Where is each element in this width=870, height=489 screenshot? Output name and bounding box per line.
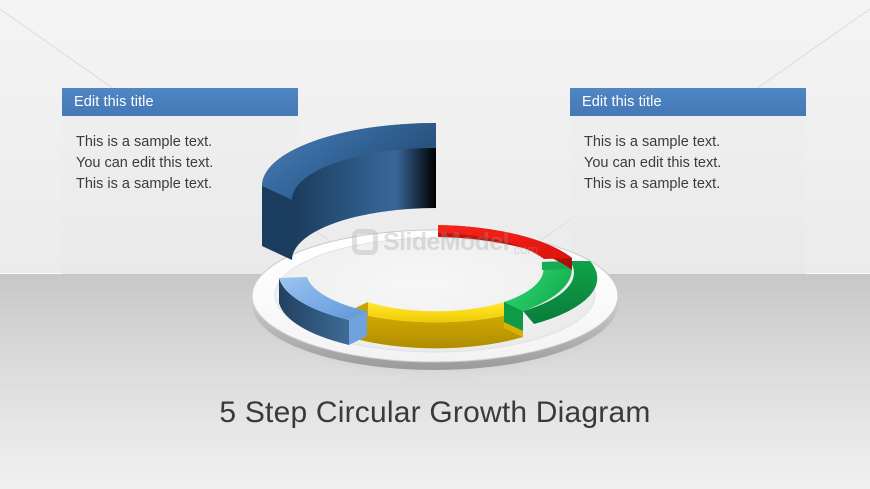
circular-growth-diagram[interactable] [232, 98, 638, 388]
panel-left-header-label: Edit this title [74, 94, 154, 110]
page-title: 5 Step Circular Growth Diagram [0, 396, 870, 430]
slide-canvas: Edit this title This is a sample text. Y… [0, 0, 870, 489]
